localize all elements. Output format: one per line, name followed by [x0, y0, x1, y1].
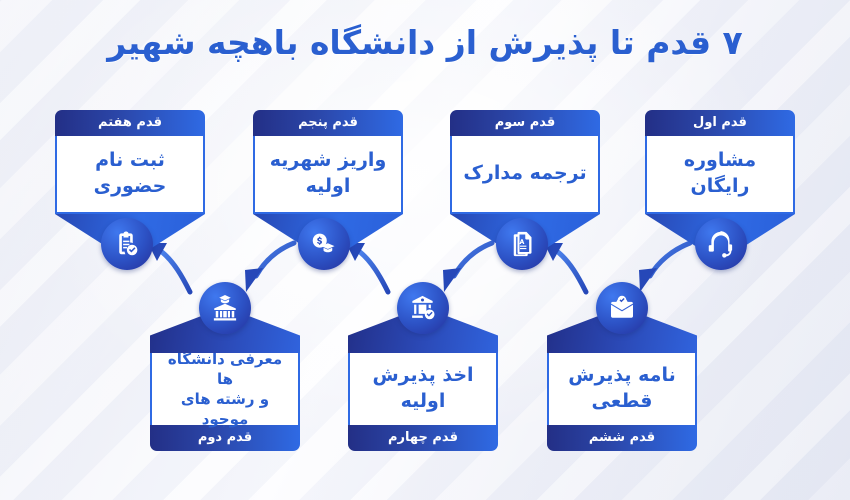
card-step-2-text: معرفی دانشگاه ها و رشته های موجود: [150, 353, 300, 425]
clipboard-check-icon: [101, 218, 153, 270]
card-step-5-step-label: قدم پنجم: [253, 110, 403, 136]
card-step-6-text: نامه پذیرش قطعی: [547, 353, 697, 425]
card-step-6-step-label: قدم ششم: [547, 425, 697, 451]
envelope-check-icon: [596, 282, 648, 334]
card-step-3-text: ترجمه مدارک: [450, 136, 600, 214]
page-title: ۷ قدم تا پذیرش از دانشگاه باهچه شهیر: [0, 22, 850, 64]
card-step-4-text: اخذ پذیرش اولیه: [348, 353, 498, 425]
card-step-4-step-label: قدم چهارم: [348, 425, 498, 451]
card-step-1-text: مشاوره رایگان: [645, 136, 795, 214]
card-step-5-text: واریز شهریه اولیه: [253, 136, 403, 214]
document-translate-icon: [496, 218, 548, 270]
card-step-3-step-label: قدم سوم: [450, 110, 600, 136]
card-step-7-step-label: قدم هفتم: [55, 110, 205, 136]
headset-icon: [695, 218, 747, 270]
university-icon: [199, 282, 251, 334]
tuition-payment-icon: [298, 218, 350, 270]
infographic-canvas: ۷ قدم تا پذیرش از دانشگاه باهچه شهیر: [0, 0, 850, 500]
card-step-1-step-label: قدم اول: [645, 110, 795, 136]
admission-check-icon: [397, 282, 449, 334]
card-step-7-text: ثبت نام حضوری: [55, 136, 205, 214]
card-step-2-text-line2: و رشته های موجود: [158, 389, 292, 430]
card-step-2-text-line1: معرفی دانشگاه ها: [158, 349, 292, 390]
